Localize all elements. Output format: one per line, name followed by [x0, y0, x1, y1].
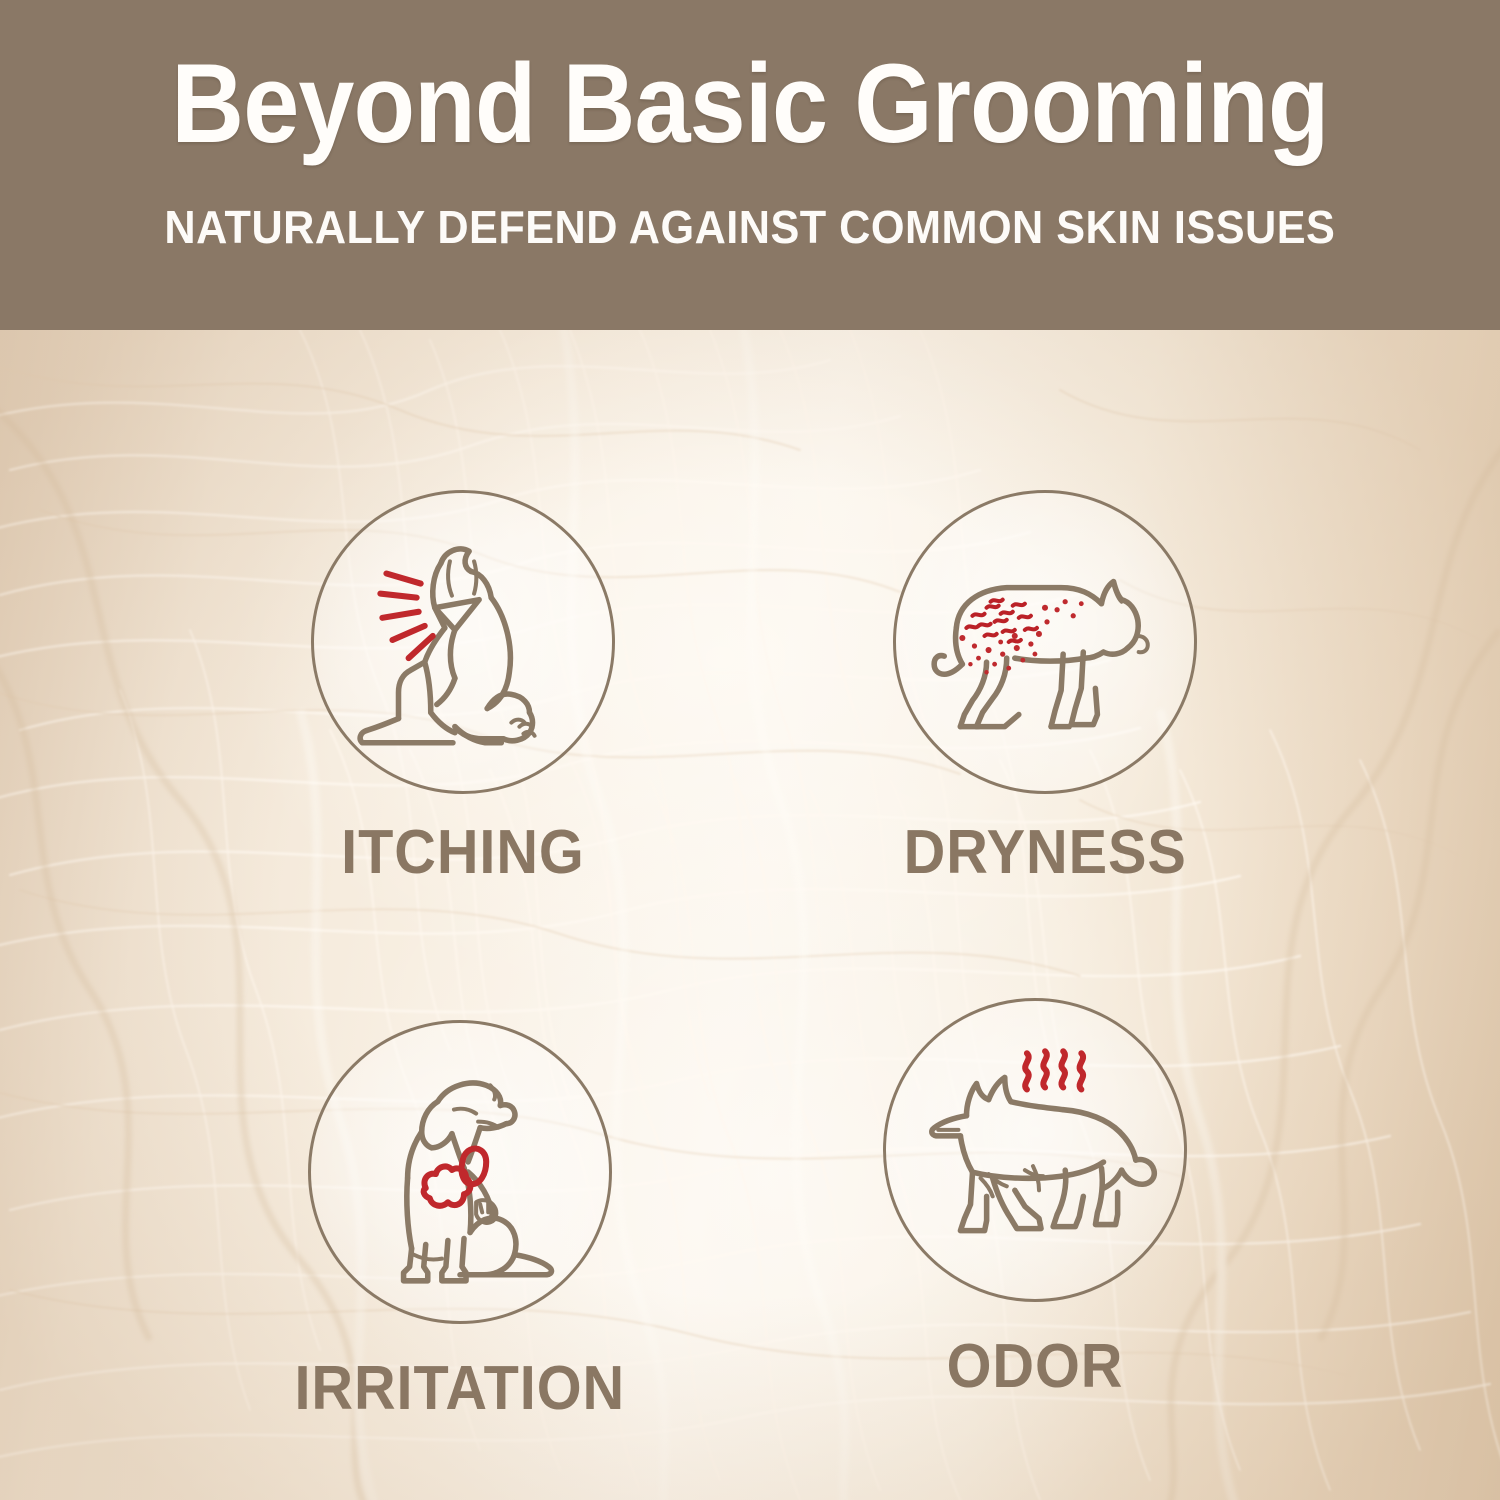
feature-grid: ITCHING — [0, 330, 1500, 1500]
feature-item-odor[interactable]: ODOR — [885, 998, 1185, 1398]
feature-label: IRRITATION — [295, 1358, 626, 1420]
dog-flaky-skin-icon — [914, 511, 1176, 773]
dog-scratching-icon — [332, 511, 594, 773]
feature-icon-circle — [883, 998, 1187, 1302]
page-subtitle: NATURALLY DEFEND AGAINST COMMON SKIN ISS… — [165, 200, 1336, 254]
product-infographic: Beyond Basic Grooming NATURALLY DEFEND A… — [0, 0, 1500, 1500]
feature-item-itching[interactable]: ITCHING — [313, 490, 613, 884]
feature-icon-circle — [308, 1020, 612, 1324]
feature-label: DRYNESS — [903, 822, 1186, 884]
feature-label: ITCHING — [341, 822, 585, 884]
dog-odor-waves-icon — [904, 1019, 1166, 1281]
feature-icon-circle — [311, 490, 615, 794]
feature-item-dryness[interactable]: DRYNESS — [895, 490, 1195, 884]
feature-item-irritation[interactable]: IRRITATION — [310, 1020, 610, 1420]
dog-irritated-patch-icon — [329, 1041, 591, 1303]
page-title: Beyond Basic Grooming — [171, 48, 1328, 160]
feature-label: ODOR — [947, 1336, 1124, 1398]
header-banner: Beyond Basic Grooming NATURALLY DEFEND A… — [0, 0, 1500, 330]
feature-icon-circle — [893, 490, 1197, 794]
